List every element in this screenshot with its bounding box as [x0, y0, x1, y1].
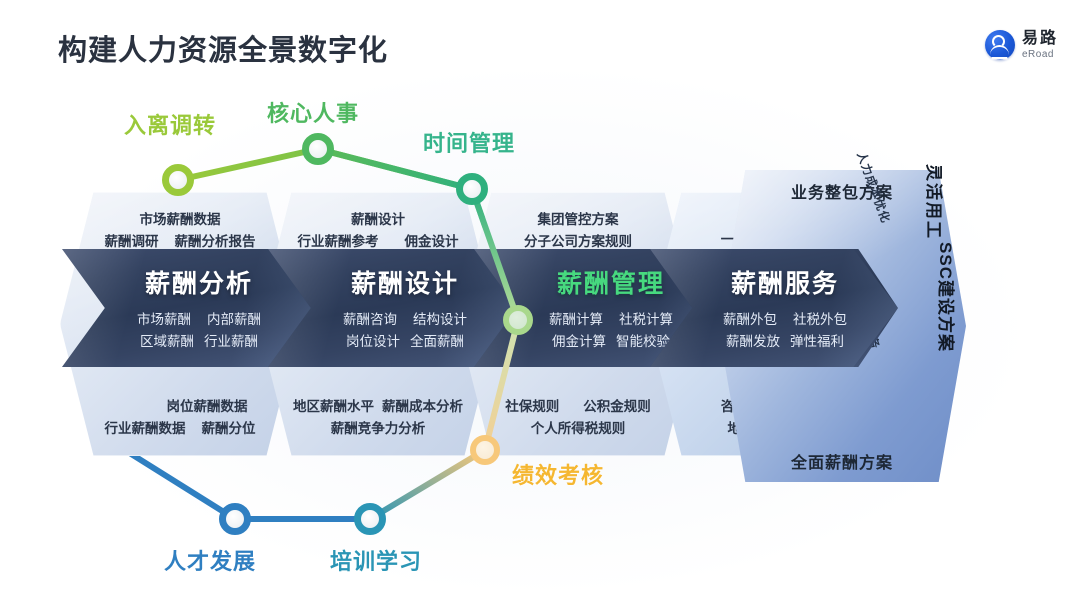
- process-stack: 市场薪酬数据 薪酬调研 薪酬分析报告 岗位薪酬数据 行业薪酬数据 薪酬分位 薪酬…: [0, 0, 1080, 593]
- hex-top-item: 佣金设计: [405, 233, 459, 251]
- chevron-sub-item: 岗位设计: [346, 331, 400, 353]
- route-label-ruli-diaozhuan: 入离调转: [124, 108, 216, 140]
- right-panel-rotated-lingfuo: 灵活用工: [923, 164, 948, 240]
- hex-top-item: 薪酬分析报告: [175, 233, 256, 251]
- hex-bottom-item: 薪酬成本分析: [382, 398, 463, 416]
- chevron-sub-item: 弹性福利: [790, 331, 844, 353]
- hex-bottom-item: 社保规则: [505, 398, 559, 416]
- chevron-title: 薪酬设计: [351, 264, 459, 300]
- hex-bottom-item: 薪酬竞争力分析: [331, 420, 426, 438]
- chevron-sub-item: 行业薪酬: [204, 331, 258, 353]
- node-hexin-renshi[interactable]: [302, 133, 334, 165]
- chevron-sub-item: 佣金计算: [552, 331, 606, 353]
- node-peixun-xuexi[interactable]: [354, 503, 386, 535]
- route-label-hexin-renshi: 核心人事: [267, 96, 359, 128]
- right-panel-rotated-ssc: SSC建设方案: [935, 242, 960, 352]
- hex-top-item: 薪酬设计: [351, 211, 405, 229]
- hex-top-item: 薪酬调研: [105, 233, 159, 251]
- hex-bottom-item: 薪酬分位: [202, 420, 256, 438]
- route-label-shijian-guanli: 时间管理: [423, 126, 515, 158]
- node-ruli-diaozhuan[interactable]: [162, 164, 194, 196]
- chevron-sub-item: 薪酬外包: [723, 309, 777, 331]
- node-shijian-guanli[interactable]: [456, 173, 488, 205]
- node-jixiao-kaohe[interactable]: [470, 435, 500, 465]
- chevron-sub-item: 结构设计: [413, 309, 467, 331]
- chevron-sub-item: 薪酬计算: [549, 309, 603, 331]
- chevron-sub-item: 市场薪酬: [137, 309, 191, 331]
- node-xinchou-guanli[interactable]: [503, 305, 533, 335]
- chevron-sub-item: 内部薪酬: [207, 309, 261, 331]
- hex-bottom-item: 个人所得税规则: [531, 420, 626, 438]
- chevron-title: 薪酬分析: [145, 264, 253, 300]
- chevron-subitems: 薪酬咨询 结构设计 岗位设计 全面薪酬: [343, 309, 467, 352]
- hex-bottom-item: 岗位薪酬数据: [167, 398, 248, 416]
- hex-bottom-item: 地区薪酬水平: [293, 398, 374, 416]
- slide-canvas: 构建人力资源全景数字化 易路 eRoad: [0, 0, 1080, 593]
- chevron-title: 薪酬管理: [557, 264, 665, 300]
- chevron-sub-item: 社税外包: [793, 309, 847, 331]
- chevron-sub-item: 区域薪酬: [140, 331, 194, 353]
- route-label-peixun-xuexi: 培训学习: [330, 544, 422, 576]
- chevron-sub-item: 薪酬咨询: [343, 309, 397, 331]
- hex-top-item: 集团管控方案: [538, 211, 619, 229]
- route-label-jixiao-kaohe: 绩效考核: [512, 458, 604, 490]
- chevron-sub-item: 薪酬发放: [726, 331, 780, 353]
- node-rencai-fazhan[interactable]: [219, 503, 251, 535]
- chevron-subitems: 市场薪酬 内部薪酬 区域薪酬 行业薪酬: [137, 309, 261, 352]
- chevron-xinchou-fuwu[interactable]: 薪酬服务 薪酬外包 社税外包 薪酬发放 弹性福利: [650, 249, 898, 367]
- right-panel-bottom-label: 全面薪酬方案: [718, 449, 966, 473]
- hex-bottom-item: 公积金规则: [583, 398, 651, 416]
- hex-top-item: 分子公司方案规则: [524, 233, 632, 251]
- route-label-rencai-fazhan: 人才发展: [164, 544, 256, 576]
- hex-top-item: 市场薪酬数据: [140, 211, 221, 229]
- hex-bottom-item: 行业薪酬数据: [105, 420, 186, 438]
- hex-top-item: 行业薪酬参考: [298, 233, 379, 251]
- chevron-subitems: 薪酬外包 社税外包 薪酬发放 弹性福利: [723, 309, 847, 352]
- chevron-title: 薪酬服务: [731, 264, 839, 300]
- chevron-sub-item: 全面薪酬: [410, 331, 464, 353]
